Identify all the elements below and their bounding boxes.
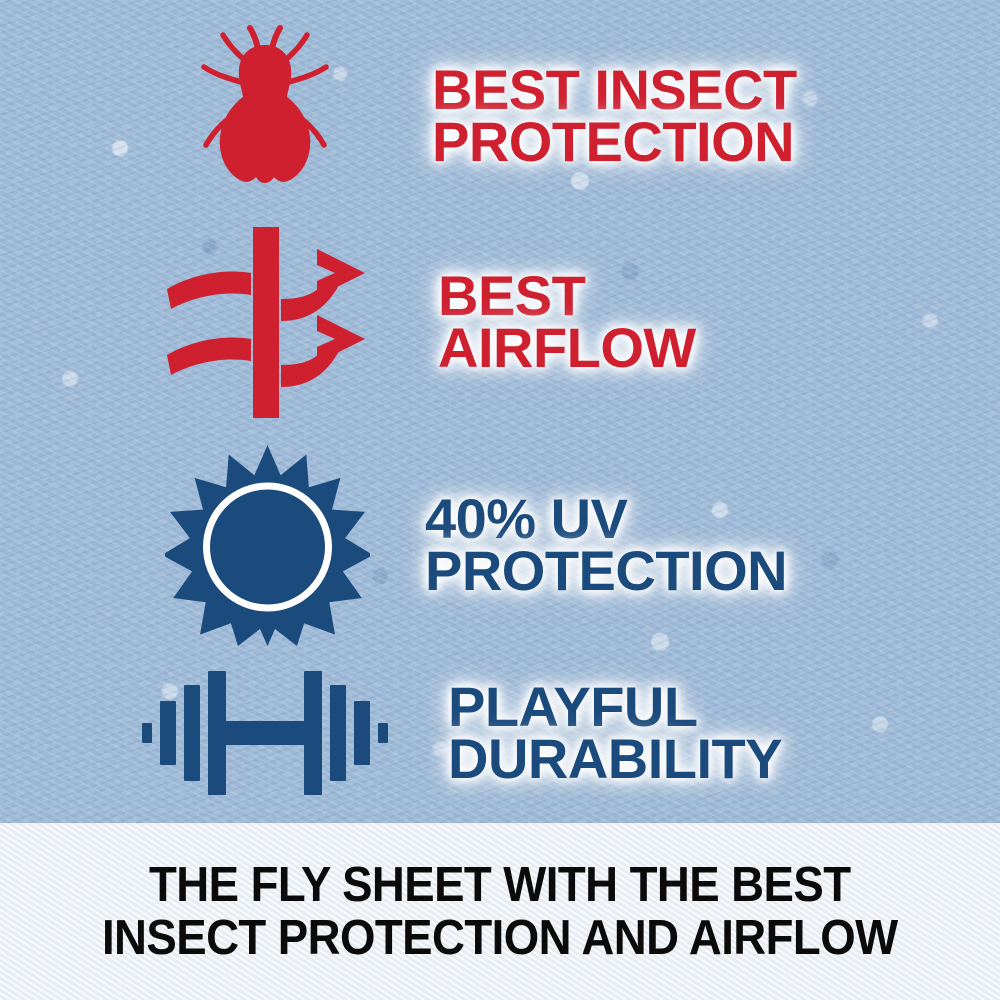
dumbbell-icon: [140, 663, 390, 803]
feature-label-durability: PLAYFUL DURABILITY: [448, 681, 782, 784]
feature-row-airflow: BEST AIRFLOW: [165, 222, 955, 422]
product-feature-poster: BEST INSECT PROTECTION BEST AIRFLOW: [0, 0, 1000, 1000]
feature-label-uv-protection: 40% UV PROTECTION: [425, 493, 787, 596]
sun-burst-icon: [165, 443, 370, 648]
airflow-arrows-icon: [165, 225, 370, 420]
feature-row-insect-protection: BEST INSECT PROTECTION: [190, 18, 980, 213]
feature-label-airflow: BEST AIRFLOW: [438, 270, 696, 373]
caption-bar: THE FLY SHEET WITH THE BEST INSECT PROTE…: [0, 823, 1000, 1000]
feature-row-uv-protection: 40% UV PROTECTION: [165, 440, 955, 650]
feature-row-durability: PLAYFUL DURABILITY: [140, 650, 960, 815]
feature-label-insect-protection: BEST INSECT PROTECTION: [432, 64, 797, 167]
caption-text: THE FLY SHEET WITH THE BEST INSECT PROTE…: [102, 859, 898, 964]
fly-icon: [190, 23, 340, 208]
feature-list: BEST INSECT PROTECTION BEST AIRFLOW: [0, 0, 1000, 823]
